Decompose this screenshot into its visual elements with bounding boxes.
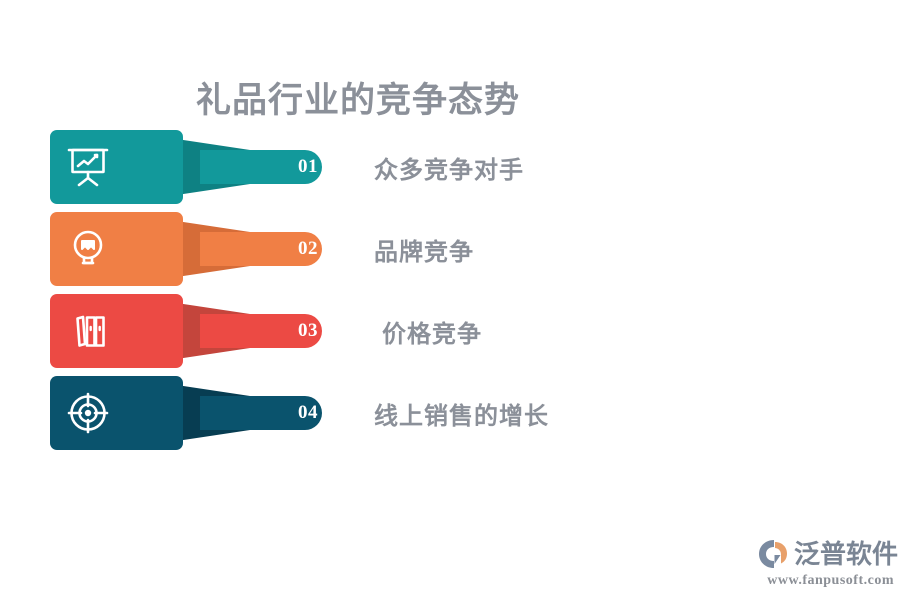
bar-body-4: [50, 376, 183, 450]
bar-shape-1[interactable]: 01: [50, 130, 342, 204]
bar-body-2: [50, 212, 183, 286]
bar-shape-3[interactable]: 03: [50, 294, 342, 368]
list-item: 03 价格竞争: [0, 294, 900, 368]
row-label-1: 众多竞争对手: [374, 130, 524, 204]
row-label-3: 价格竞争: [382, 294, 482, 368]
bar-body-3: [50, 294, 183, 368]
fanpu-logo-mark-icon: [758, 539, 792, 569]
bar-shape-4[interactable]: 04: [50, 376, 342, 450]
bar-number: 04: [298, 376, 318, 450]
bar-shape-2[interactable]: 02: [50, 212, 342, 286]
page-title: 礼品行业的竞争态势: [196, 80, 520, 122]
bar-number: 01: [298, 130, 318, 204]
bar-number: 02: [298, 212, 318, 286]
row-label-4: 线上销售的增长: [374, 376, 549, 450]
logo-row: 泛普软件: [758, 536, 894, 572]
list-item: 04 线上销售的增长: [0, 376, 900, 450]
list-item: 01 众多竞争对手: [0, 130, 900, 204]
bar-number: 03: [298, 294, 318, 368]
infographic-canvas: 礼品行业的竞争态势 01 众多竞争对手: [0, 0, 900, 600]
logo-text: 泛普软件: [794, 539, 898, 569]
list-item: 02 品牌竞争: [0, 212, 900, 286]
brand-logo: 泛普软件 www.fanpusoft.com: [758, 536, 894, 592]
bar-body-1: [50, 130, 183, 204]
logo-url: www.fanpusoft.com: [758, 573, 894, 589]
row-label-2: 品牌竞争: [374, 212, 474, 286]
